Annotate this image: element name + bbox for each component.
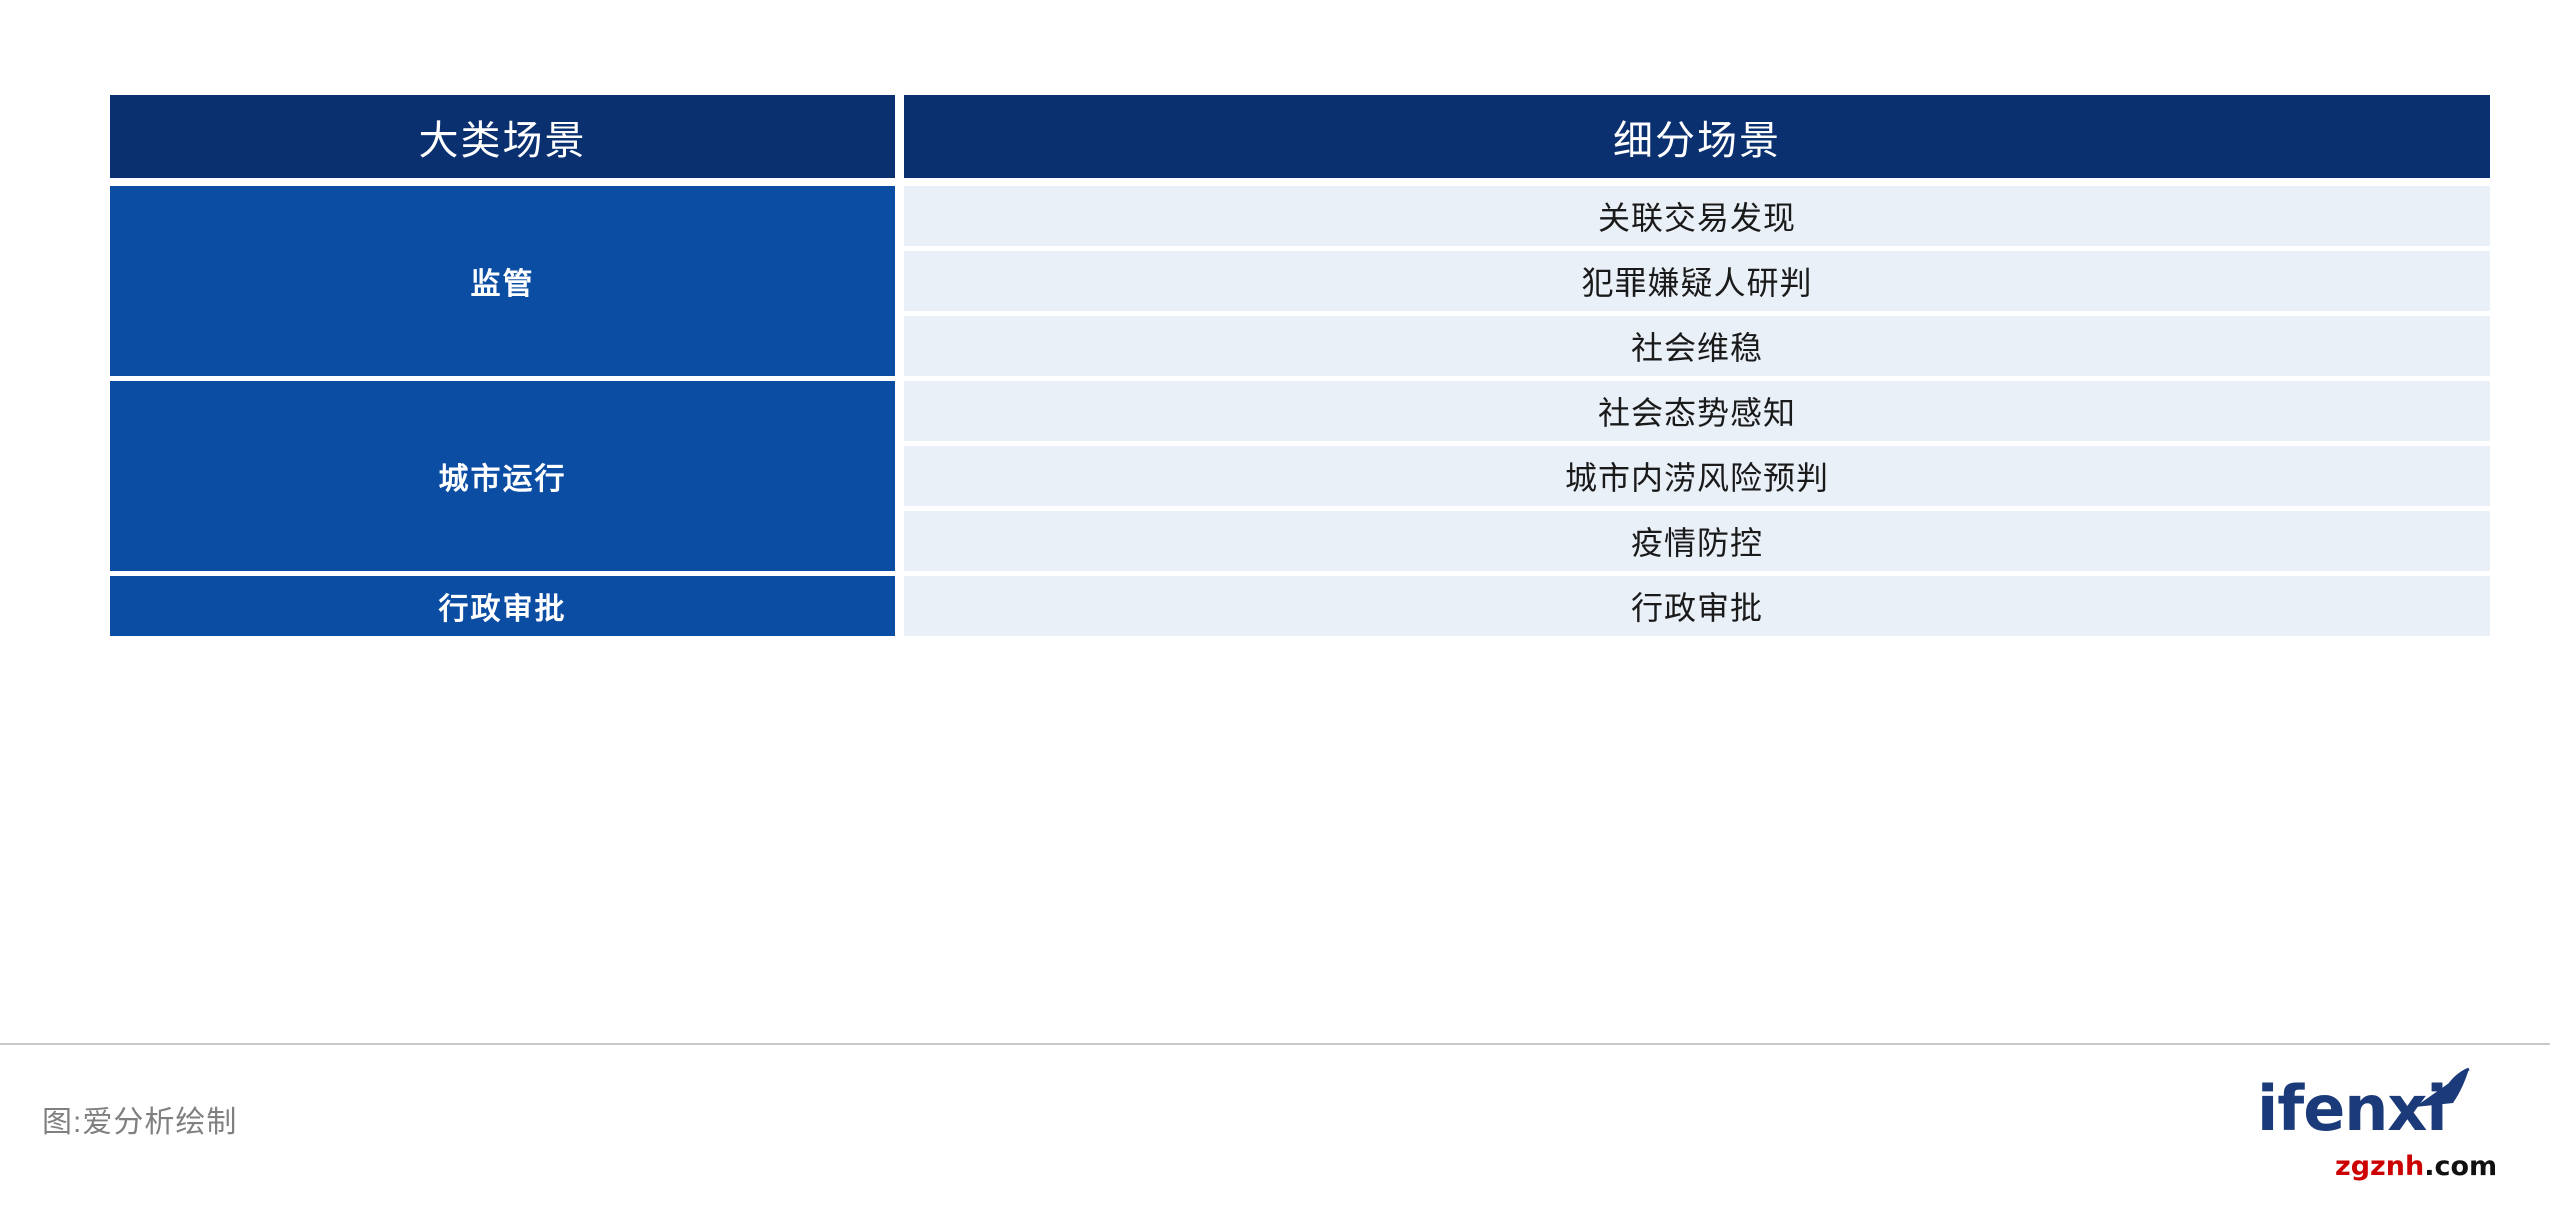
table-header-row: 大类场景 细分场景 bbox=[110, 95, 2490, 178]
subscenario-cell: 社会维稳 bbox=[904, 316, 2490, 376]
scenario-table: 大类场景 细分场景 监管 关联交易发现 犯罪嫌疑人研判 社会维稳 城市运行 社会… bbox=[110, 95, 2490, 636]
column-header-category: 大类场景 bbox=[110, 95, 895, 178]
table-row-group-2: 城市运行 社会态势感知 城市内涝风险预判 疫情防控 bbox=[110, 381, 2490, 571]
subscenario-cell: 犯罪嫌疑人研判 bbox=[904, 251, 2490, 311]
subscenario-list-3: 行政审批 bbox=[904, 576, 2490, 636]
arrow-swoosh-icon bbox=[2409, 1067, 2479, 1113]
category-cell-administrative-approval: 行政审批 bbox=[110, 576, 895, 636]
subscenario-cell: 行政审批 bbox=[904, 576, 2490, 636]
subscenario-cell: 城市内涝风险预判 bbox=[904, 446, 2490, 506]
category-cell-regulation: 监管 bbox=[110, 186, 895, 376]
table-row-group-1: 监管 关联交易发现 犯罪嫌疑人研判 社会维稳 bbox=[110, 186, 2490, 376]
logo-domain-primary: zgznh bbox=[2335, 1151, 2424, 1182]
subscenario-cell: 关联交易发现 bbox=[904, 186, 2490, 246]
table-row-group-3: 行政审批 行政审批 bbox=[110, 576, 2490, 636]
footer-divider bbox=[0, 1043, 2550, 1045]
subscenario-cell: 疫情防控 bbox=[904, 511, 2490, 571]
logo-domain-suffix: .com bbox=[2424, 1151, 2497, 1182]
subscenario-list-2: 社会态势感知 城市内涝风险预判 疫情防控 bbox=[904, 381, 2490, 571]
logo-domain: zgznh.com bbox=[2335, 1151, 2497, 1182]
footer-caption: 图:爱分析绘制 bbox=[42, 1097, 237, 1141]
category-cell-city-operation: 城市运行 bbox=[110, 381, 895, 571]
subscenario-list-1: 关联交易发现 犯罪嫌疑人研判 社会维稳 bbox=[904, 186, 2490, 376]
column-header-subscenario: 细分场景 bbox=[904, 95, 2490, 178]
ifenxi-logo: ifenxi zgznh.com bbox=[2257, 1073, 2507, 1193]
subscenario-cell: 社会态势感知 bbox=[904, 381, 2490, 441]
